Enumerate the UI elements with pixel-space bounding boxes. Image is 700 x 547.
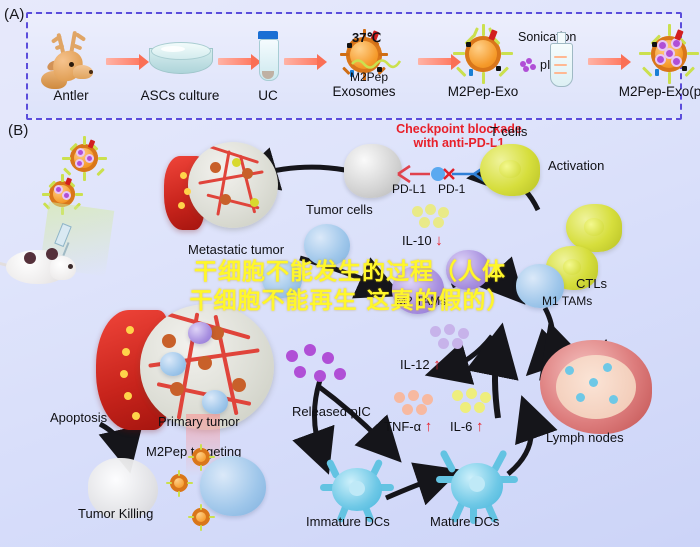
label-m1-tams: M1 TAMs bbox=[542, 294, 592, 308]
label-t-cells: T cells bbox=[490, 124, 527, 139]
m2-tam-cell bbox=[446, 250, 490, 290]
peptide-squiggle-icon bbox=[350, 56, 402, 70]
label-activation: Activation bbox=[548, 158, 604, 173]
targeting-exosome-icon bbox=[188, 444, 214, 470]
blue-marker-icon bbox=[469, 69, 473, 76]
loaded-exosome-icon bbox=[608, 24, 700, 84]
petri-dish-icon bbox=[140, 30, 220, 88]
label-lymph-nodes: Lymph nodes bbox=[546, 430, 624, 445]
label-m2-tams: M2 TAMs bbox=[396, 294, 446, 308]
label-apoptosis: Apoptosis bbox=[50, 410, 107, 425]
step-uc: UC bbox=[250, 30, 286, 103]
panel-a-letter: (A) bbox=[4, 6, 25, 23]
centrifuge-tube-icon bbox=[250, 30, 286, 88]
metastatic-tumor-illustration bbox=[160, 132, 290, 242]
mature-dendritic-cell bbox=[436, 448, 518, 522]
tnf-cytokine-cluster bbox=[394, 390, 436, 416]
il12-trend-icon: ↑ bbox=[433, 356, 441, 373]
blue-marker-icon bbox=[655, 69, 659, 76]
label-tumor-cells: Tumor cells bbox=[306, 202, 373, 217]
label-pd-1: PD-1 bbox=[438, 182, 465, 196]
syringe-icon bbox=[52, 224, 78, 258]
targeting-exosome-icon bbox=[166, 470, 192, 496]
tnf-trend-icon: ↑ bbox=[425, 418, 433, 435]
label-immature-dcs: Immature DCs bbox=[306, 514, 390, 529]
panel-b-container: Metastatic tumor Tumor cells Checkpoint … bbox=[0, 118, 700, 547]
il6-text: IL-6 bbox=[450, 419, 472, 434]
process-arrow-2 bbox=[218, 58, 252, 65]
t-cell bbox=[480, 144, 540, 196]
targeting-exosome-icon bbox=[188, 504, 214, 530]
temperature-label: 37℃ bbox=[352, 30, 381, 46]
m1-tam-cell bbox=[262, 260, 302, 298]
label-primary-tumor: Primary tumor bbox=[158, 414, 240, 429]
process-arrow-3 bbox=[284, 58, 318, 65]
m1-tam-cell bbox=[304, 224, 350, 266]
step-label-uc: UC bbox=[250, 88, 286, 103]
process-arrow-1 bbox=[106, 58, 140, 65]
il12-cytokine-cluster bbox=[430, 324, 472, 350]
pic-cluster-icon bbox=[520, 58, 536, 72]
black-marker-icon bbox=[682, 66, 687, 71]
il12-text: IL-12 bbox=[400, 357, 430, 372]
step-label-ascs: ASCs culture bbox=[140, 88, 220, 103]
step-antler: Antler bbox=[36, 30, 106, 103]
black-marker-icon bbox=[466, 42, 471, 47]
panel-a-container: Antler ASCs culture UC bbox=[26, 12, 682, 120]
deer-icon bbox=[36, 30, 106, 88]
step-m2pep-exo-pic: M2Pep-Exo(pIC) bbox=[608, 24, 700, 99]
il10-cytokine-cluster bbox=[412, 204, 452, 228]
tnf-text: TNF-α bbox=[384, 419, 421, 434]
label-il6: IL-6 ↑ bbox=[450, 418, 484, 435]
figure-canvas: (A) Antler bbox=[0, 0, 700, 547]
temperature-annotation: 37℃ bbox=[352, 30, 381, 46]
label-pd-l1: PD-L1 bbox=[392, 182, 426, 196]
peptide-label: M2Pep bbox=[350, 70, 388, 84]
il10-trend-icon: ↓ bbox=[435, 232, 443, 249]
step-label-m2pep-exo-pic: M2Pep-Exo(pIC) bbox=[608, 84, 700, 99]
label-tnf-alpha: TNF-α ↑ bbox=[384, 418, 432, 435]
label-mature-dcs: Mature DCs bbox=[430, 514, 499, 529]
label-il10: IL-10 ↓ bbox=[402, 232, 443, 249]
step-label-exosomes: Exosomes bbox=[316, 84, 412, 99]
label-ctls: CTLs bbox=[576, 276, 607, 291]
sonication-tube-icon bbox=[548, 32, 574, 86]
il6-trend-icon: ↑ bbox=[476, 418, 484, 435]
il10-text: IL-10 bbox=[402, 233, 432, 248]
step-label-m2pep-exo: M2Pep-Exo bbox=[428, 84, 538, 99]
step-label-antler: Antler bbox=[36, 88, 106, 103]
black-marker-icon bbox=[652, 42, 657, 47]
lymph-node-illustration bbox=[540, 340, 652, 434]
step-ascs-culture: ASCs culture bbox=[140, 30, 220, 103]
label-il12: IL-12 ↑ bbox=[400, 356, 441, 373]
il6-cytokine-cluster bbox=[452, 388, 494, 414]
label-released-pic: Released pIC bbox=[292, 404, 371, 419]
label-tumor-killing: Tumor Killing bbox=[78, 506, 153, 521]
black-marker-icon bbox=[496, 66, 501, 71]
pd-receptor-diagram bbox=[396, 154, 492, 184]
ctl-cell bbox=[566, 204, 622, 252]
label-metastatic-tumor: Metastatic tumor bbox=[188, 242, 284, 257]
